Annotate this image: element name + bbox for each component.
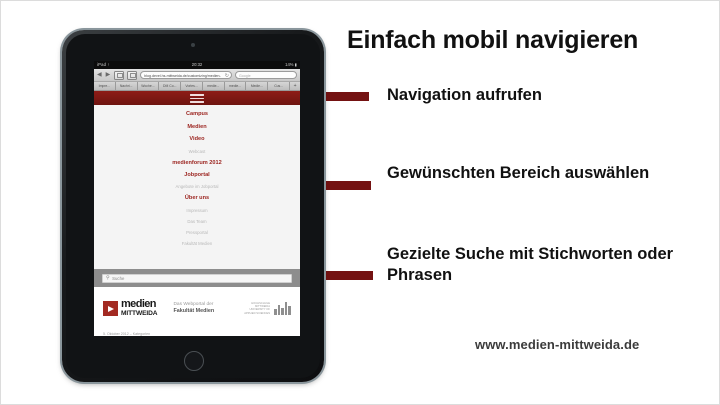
callout-bereich: Gewünschten Bereich auswählen [387,163,697,184]
site-search-input[interactable]: ⚲ Suche [102,274,292,283]
site-footer: medien MITTWEIDA Das Webportal der Fakul… [94,287,300,330]
browser-tab-bar: Impre...Nachri...Woche...DM Co...Vorles.… [94,82,300,91]
website-url: www.medien-mittweida.de [475,337,639,352]
browser-search-input[interactable]: Google [235,71,297,79]
menu-item[interactable]: Video [94,134,300,146]
university-line: APPLIED SCIENCES [244,312,270,315]
university-logo: HOCHSCHULEMITTWEIDAUNIVERSITY OFAPPLIED … [244,302,291,316]
brand-wordmark: medien MITTWEIDA [121,299,157,317]
forward-icon[interactable]: ▶ [106,72,111,78]
browser-tab[interactable]: medie... [203,82,225,90]
university-bars-icon [273,302,291,315]
menu-item[interactable]: medienforum 2012 [94,157,300,169]
browser-tab[interactable]: Cus... [268,82,290,90]
new-tab-button[interactable]: + [290,82,300,90]
share-icon[interactable] [127,71,137,80]
tablet-device: iPad ↑ 20:32 14% ▮ ◀ ▶ blog.devel.hs-mit… [62,30,324,382]
site-search-row: ⚲ Suche [94,269,300,287]
site-menu-list: CampusMedienVideoWebcastmedienforum 2012… [94,105,300,269]
menu-item[interactable]: Pressportal [94,228,300,239]
magnifier-icon: ⚲ [106,276,110,281]
play-triangle-icon [108,306,114,312]
brand-logo[interactable]: medien MITTWEIDA [103,299,157,317]
status-battery: 14% ▮ [285,61,297,69]
browser-tab[interactable]: Vorles... [181,82,203,90]
site-search-placeholder: Suche [112,276,124,281]
status-clock: 20:32 [94,61,300,69]
footer-tagline: Das Webportal der Fakultät Medien [173,302,214,315]
menu-item[interactable]: Jobportal [94,170,300,182]
brand-name-primary: medien [121,299,157,310]
reload-icon[interactable]: ↻ [225,73,229,79]
url-input[interactable]: blog.devel.hs-mittweida.de/customizing/m… [140,71,232,79]
menu-item[interactable]: Angebote im Jobportal [94,182,300,193]
play-icon [103,301,118,316]
menu-item[interactable]: Das Team [94,216,300,227]
front-camera-icon [191,43,195,47]
browser-tab[interactable]: Medie... [246,82,268,90]
bookmarks-icon[interactable] [114,71,124,80]
callout-suche: Gezielte Suche mit Stichworten oder Phra… [387,244,697,286]
tablet-screen: iPad ↑ 20:32 14% ▮ ◀ ▶ blog.devel.hs-mit… [94,61,300,336]
menu-item[interactable]: Über uns [94,193,300,205]
browser-tab[interactable]: medie... [225,82,247,90]
back-icon[interactable]: ◀ [97,72,102,78]
hamburger-line [190,101,204,103]
menu-item[interactable]: Campus [94,109,300,121]
browser-tab[interactable]: Nachri... [116,82,138,90]
menu-item[interactable]: Medien [94,121,300,133]
tagline-line-2: Fakultät Medien [173,308,214,315]
hamburger-line [190,94,204,96]
home-button[interactable] [184,351,204,371]
browser-tab[interactable]: Impre... [94,82,116,90]
menu-item[interactable]: Webcast [94,146,300,157]
university-wordmark: HOCHSCHULEMITTWEIDAUNIVERSITY OFAPPLIED … [244,302,270,316]
menu-item[interactable]: Impressum [94,205,300,216]
callout-navigation: Navigation aufrufen [387,85,697,106]
hamburger-line [190,98,204,100]
url-text: blog.devel.hs-mittweida.de/customizing/m… [144,74,221,78]
site-navbar [94,91,300,105]
footer-date: 5. Oktober 2012 – Kategorien [94,330,300,336]
tablet-bezel: iPad ↑ 20:32 14% ▮ ◀ ▶ blog.devel.hs-mit… [66,34,320,378]
status-bar: iPad ↑ 20:32 14% ▮ [94,61,300,69]
browser-tab[interactable]: DM Co... [159,82,181,90]
page-title: Einfach mobil navigieren [347,27,707,55]
menu-item[interactable]: Fakultät Medien [94,239,300,250]
brand-name-secondary: MITTWEIDA [121,311,157,318]
browser-tab[interactable]: Woche... [138,82,160,90]
slide-canvas: Einfach mobil navigieren Navigation aufr… [0,0,720,405]
hamburger-icon[interactable] [190,94,204,103]
browser-toolbar: ◀ ▶ blog.devel.hs-mittweida.de/customizi… [94,69,300,82]
